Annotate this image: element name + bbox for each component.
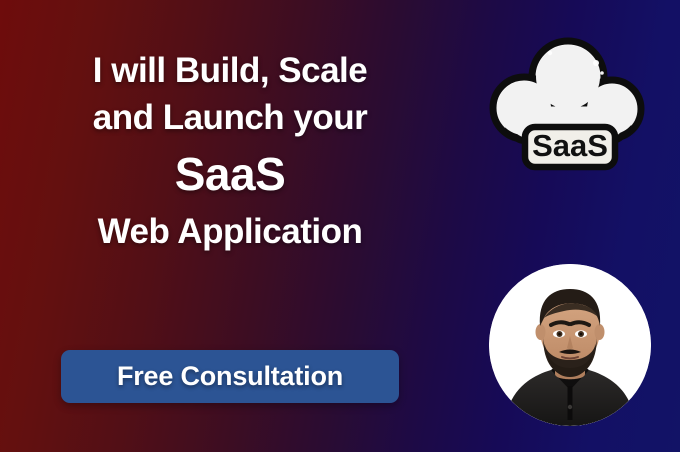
headline-line-1: I will Build, Scale: [22, 52, 438, 89]
avatar: [489, 264, 651, 426]
cta-container: Free Consultation: [0, 350, 460, 403]
headline-line-saas: SaaS: [22, 150, 438, 199]
saas-cloud-icon: SaaS: [478, 33, 658, 173]
headline-line-2: and Launch your: [22, 99, 438, 136]
headline-line-4: Web Application: [22, 213, 438, 250]
free-consultation-button[interactable]: Free Consultation: [61, 350, 399, 403]
saas-badge-text: SaaS: [532, 128, 608, 163]
gig-banner: I will Build, Scale and Launch your SaaS…: [0, 0, 680, 452]
